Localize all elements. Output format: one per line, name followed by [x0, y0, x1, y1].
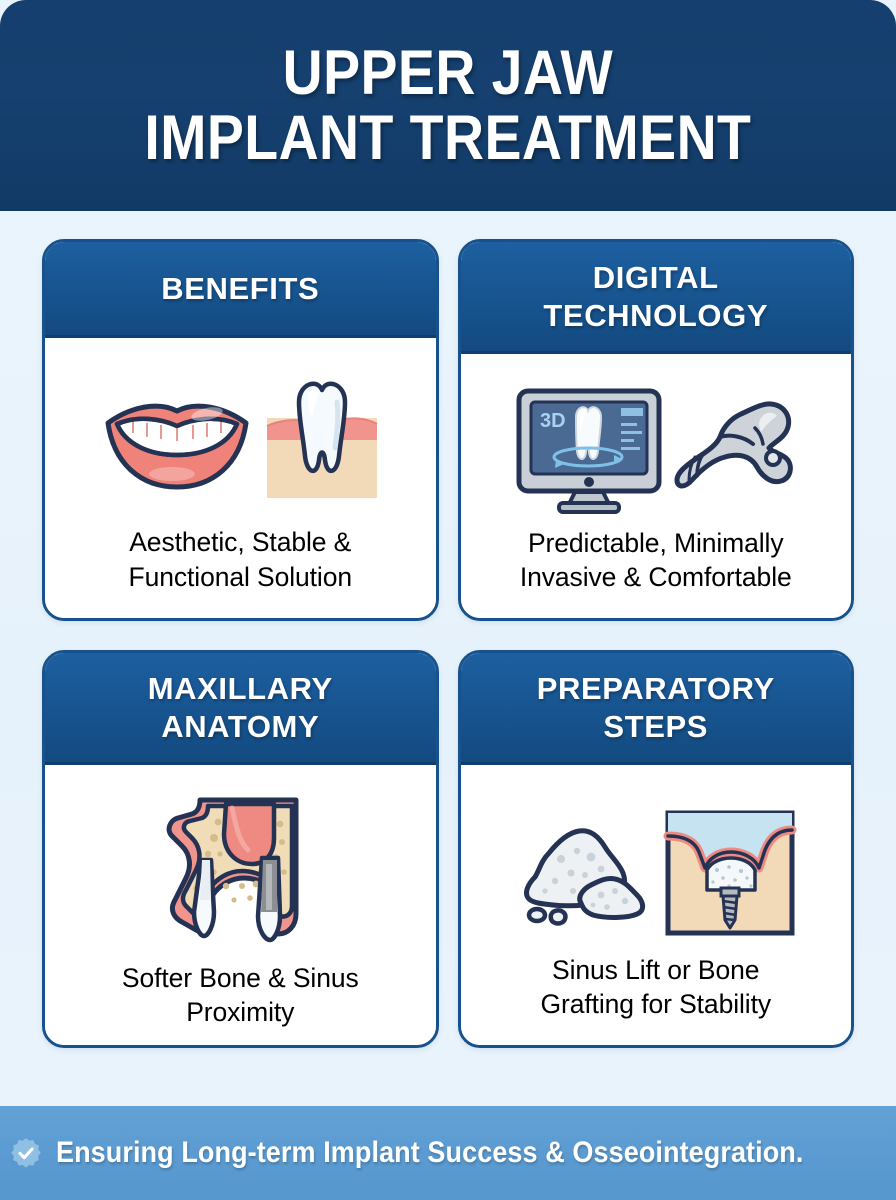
- maxillary-cross-section-icon: [156, 794, 324, 960]
- card-benefits-caption-line2: Functional Solution: [129, 562, 353, 592]
- card-digital-technology-header: DIGITAL TECHNOLOGY: [461, 242, 852, 354]
- page-title-line1: UPPER JAW: [145, 41, 752, 105]
- card-preparatory-steps-header: PREPARATORY STEPS: [461, 653, 852, 765]
- card-digital-technology-title-line2: TECHNOLOGY: [543, 298, 768, 333]
- card-grid: BENEFITS: [42, 239, 854, 1048]
- card-digital-technology-caption-line1: Predictable, Minimally: [528, 528, 784, 558]
- card-digital-technology-body: 3D: [461, 354, 852, 619]
- card-preparatory-steps-body: Sinus Lift or Bone Grafting for Stabilit…: [461, 765, 852, 1048]
- card-maxillary-anatomy-caption-line2: Proximity: [186, 997, 294, 1027]
- card-preparatory-steps-caption-line1: Sinus Lift or Bone: [552, 955, 759, 985]
- bone-graft-granules-icon: [515, 813, 655, 933]
- card-preparatory-steps-illustration: [515, 793, 797, 953]
- infographic-poster: UPPER JAW IMPLANT TREATMENT BENEFITS: [0, 0, 896, 1200]
- card-benefits-caption-line1: Aesthetic, Stable &: [129, 527, 351, 557]
- card-maxillary-anatomy-title-line1: MAXILLARY: [148, 671, 333, 706]
- card-digital-technology-caption: Predictable, Minimally Invasive & Comfor…: [516, 526, 796, 595]
- card-benefits-body: Aesthetic, Stable & Functional Solution: [45, 338, 436, 618]
- dental-forceps-icon: [673, 396, 799, 506]
- card-preparatory-steps-title-line1: PREPARATORY: [537, 671, 775, 706]
- card-benefits-caption: Aesthetic, Stable & Functional Solution: [125, 525, 357, 594]
- page-title-line2: IMPLANT TREATMENT: [145, 106, 752, 170]
- poster-footer: Ensuring Long-term Implant Success & Oss…: [0, 1106, 896, 1200]
- card-maxillary-anatomy-header: MAXILLARY ANATOMY: [45, 653, 436, 765]
- smiling-lips-icon: [100, 379, 255, 499]
- card-digital-technology-title: DIGITAL TECHNOLOGY: [543, 259, 768, 335]
- monitor-3d-label: 3D: [540, 410, 566, 432]
- footer-text: Ensuring Long-term Implant Success & Oss…: [56, 1136, 803, 1170]
- sinus-lift-implant-icon: [663, 808, 797, 938]
- card-benefits-title: BENEFITS: [161, 270, 319, 308]
- card-digital-technology-caption-line2: Invasive & Comfortable: [520, 562, 792, 592]
- card-digital-technology[interactable]: DIGITAL TECHNOLOGY 3D: [458, 239, 855, 621]
- tooth-in-gum-icon: [263, 374, 381, 504]
- verified-check-badge-icon: [9, 1136, 43, 1170]
- card-maxillary-anatomy-title-line2: ANATOMY: [161, 709, 319, 744]
- card-preparatory-steps-caption-line2: Grafting for Stability: [540, 989, 771, 1019]
- card-benefits[interactable]: BENEFITS: [42, 239, 439, 621]
- card-preparatory-steps-title-line2: STEPS: [603, 709, 708, 744]
- card-maxillary-anatomy[interactable]: MAXILLARY ANATOMY: [42, 650, 439, 1048]
- card-preparatory-steps-caption: Sinus Lift or Bone Grafting for Stabilit…: [536, 953, 775, 1022]
- card-preparatory-steps[interactable]: PREPARATORY STEPS: [458, 650, 855, 1048]
- cards-area: BENEFITS: [0, 211, 896, 1106]
- card-digital-technology-title-line1: DIGITAL: [593, 260, 719, 295]
- card-benefits-illustration: [100, 364, 381, 514]
- 3d-scan-monitor-icon: 3D: [513, 385, 665, 517]
- card-maxillary-anatomy-illustration: [156, 793, 324, 961]
- card-digital-technology-illustration: 3D: [513, 376, 799, 526]
- card-maxillary-anatomy-caption-line1: Softer Bone & Sinus: [122, 963, 359, 993]
- card-maxillary-anatomy-title: MAXILLARY ANATOMY: [148, 670, 333, 746]
- page-title: UPPER JAW IMPLANT TREATMENT: [118, 41, 778, 170]
- card-maxillary-anatomy-body: Softer Bone & Sinus Proximity: [45, 765, 436, 1048]
- card-benefits-header: BENEFITS: [45, 242, 436, 338]
- card-preparatory-steps-title: PREPARATORY STEPS: [537, 670, 775, 746]
- card-maxillary-anatomy-caption: Softer Bone & Sinus Proximity: [118, 961, 363, 1030]
- poster-header: UPPER JAW IMPLANT TREATMENT: [0, 0, 896, 211]
